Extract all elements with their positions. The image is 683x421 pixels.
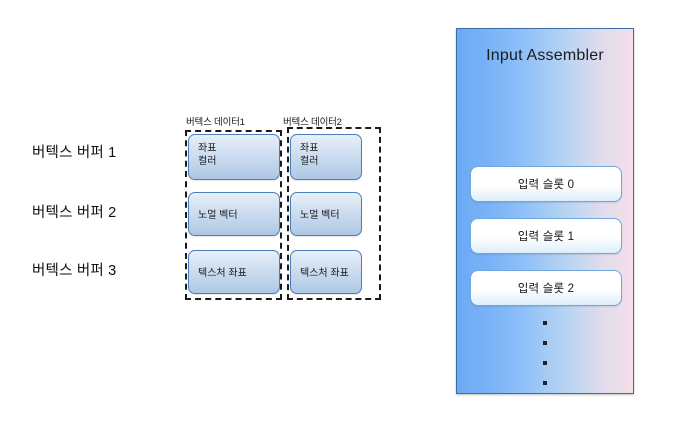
ellipsis-dots [457,321,633,401]
attribute-line: 컬러 [198,155,279,168]
vertex-data-group-caption-2: 버텍스 데이터2 [283,114,342,128]
ellipsis-dot [543,341,547,345]
input-slot-2[interactable]: 입력 슬롯 2 [470,270,622,306]
input-slot-label: 입력 슬롯 0 [518,176,575,192]
ellipsis-dot [543,381,547,385]
attribute-line: 텍스처 좌표 [198,258,279,280]
attribute-line: 노멀 벡터 [300,200,361,222]
attribute-line: 좌표 [198,142,279,155]
input-slot-0[interactable]: 입력 슬롯 0 [470,166,622,202]
input-slot-label: 입력 슬롯 2 [518,280,575,296]
vertex-buffer-label-1: 버텍스 버퍼 1 [32,141,182,162]
attribute-box-col1-row2: 노멀 벡터 [188,192,280,236]
vertex-buffer-label-2: 버텍스 버퍼 2 [32,201,182,222]
vertex-buffer-label-3: 버텍스 버퍼 3 [32,259,182,280]
attribute-box-col2-row2: 노멀 벡터 [290,192,362,236]
input-slot-1[interactable]: 입력 슬롯 1 [470,218,622,254]
input-slot-label: 입력 슬롯 1 [518,228,575,244]
attribute-box-col2-row1: 좌표 컬러 [290,134,362,180]
input-assembler-panel: Input Assembler 입력 슬롯 0 입력 슬롯 1 입력 슬롯 2 [456,28,634,394]
attribute-line: 좌표 [300,142,361,155]
attribute-line: 컬러 [300,155,361,168]
attribute-box-col2-row3: 텍스처 좌표 [290,250,362,294]
vertex-data-group-caption-1: 버텍스 데이터1 [186,114,245,128]
attribute-line: 텍스처 좌표 [300,258,361,280]
ellipsis-dot [543,321,547,325]
input-assembler-title: Input Assembler [457,47,633,65]
attribute-box-col1-row1: 좌표 컬러 [188,134,280,180]
attribute-line: 노멀 벡터 [198,200,279,222]
attribute-box-col1-row3: 텍스처 좌표 [188,250,280,294]
ellipsis-dot [543,361,547,365]
